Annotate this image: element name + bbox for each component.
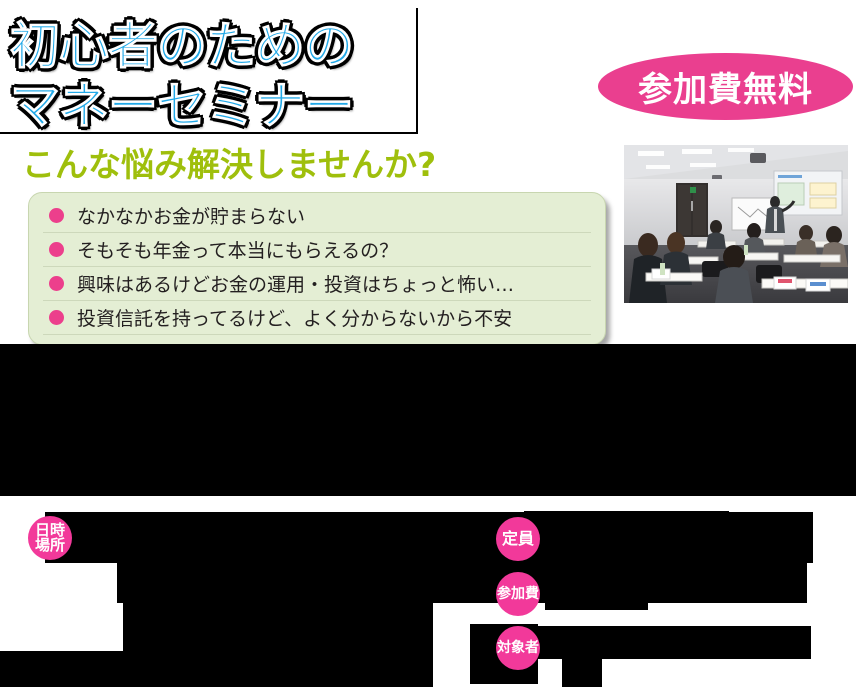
bullet-icon [49,310,64,325]
bullet-icon [49,208,64,223]
badge-target-label: 対象者 [497,641,539,655]
concern-item-label: そもそも年金って本当にもらえるの？ [77,236,398,263]
badge-target: 対象者 [496,626,540,670]
badge-fee-label: 参加費 [497,587,539,601]
badge-capacity-label: 定員 [502,531,534,547]
concern-item: 興味はあるけどお金の運用・投資はちょっと怖い… [43,267,591,301]
bullet-icon [49,242,64,257]
concern-item-label: なかなかお金が貯まらない [77,202,305,229]
poster-subheading: こんな悩み解決しませんか? [22,138,436,186]
concern-item-label: 投資信託を持ってるけど、よく分からないから不安 [77,304,512,331]
bullet-icon [49,276,64,291]
badge-datetime: 日時 場所 [28,516,72,560]
concern-item: 投資信託を持ってるけど、よく分からないから不安 [43,301,591,335]
seminar-room-photo [624,145,848,303]
redacted-target-bar-3 [562,659,602,687]
redacted-fee-bar-2 [545,566,648,610]
concerns-box: なかなかお金が貯まらない そもそも年金って本当にもらえるの？ 興味はあるけどお金… [28,192,606,345]
seminar-poster: 初心者のための マネーセミナー こんな悩み解決しませんか? 参加費無料 [0,0,856,687]
title-box: 初心者のための マネーセミナー [0,8,418,134]
redacted-datetime-bar-3 [123,603,433,651]
free-participation-badge-label: 参加費無料 [598,53,853,120]
redacted-datetime-bar-2 [117,563,807,603]
badge-capacity: 定員 [496,517,540,561]
concern-item: そもそも年金って本当にもらえるの？ [43,233,591,267]
redacted-content-block [0,344,856,496]
concern-item-label: 興味はあるけどお金の運用・投資はちょっと怖い… [77,270,514,297]
concern-item: なかなかお金が貯まらない [43,199,591,233]
redacted-target-bar-2 [528,626,811,659]
badge-fee: 参加費 [496,572,540,616]
redacted-datetime-bar-4 [0,651,433,687]
free-participation-badge: 参加費無料 [598,53,853,120]
poster-title-line-2: マネーセミナー [10,66,353,138]
seminar-room-illustration [624,145,848,303]
badge-datetime-line-2: 場所 [35,538,65,553]
